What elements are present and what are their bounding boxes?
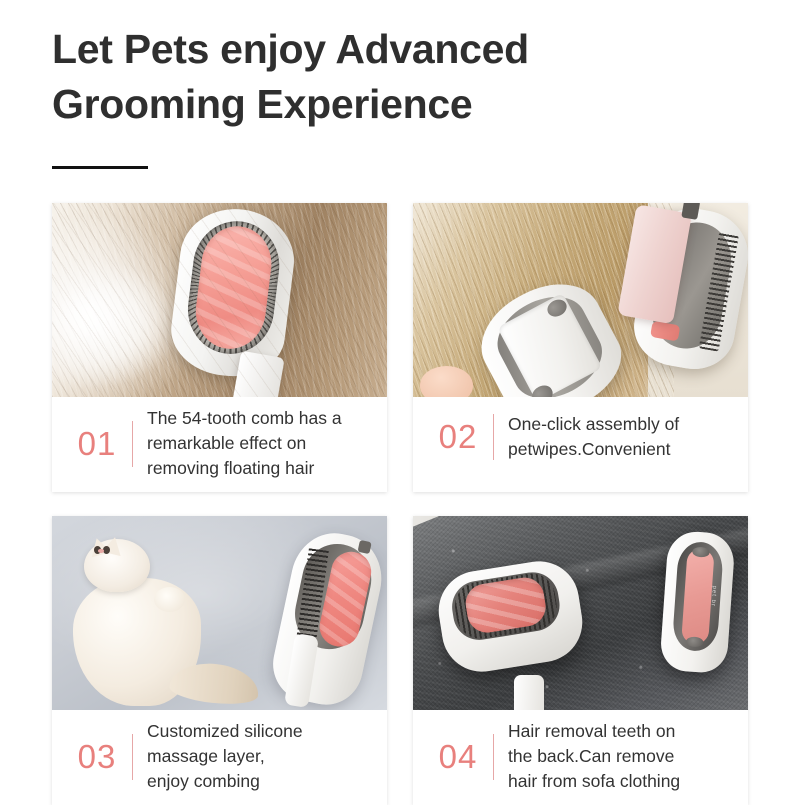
caption-separator (493, 414, 494, 460)
feature-card-grid: 01 The 54-tooth comb has a remarkable ef… (52, 203, 748, 805)
feature-card-02[interactable]: 02 One-click assembly of petwipes.Conven… (413, 203, 748, 492)
caption-01: 01 The 54-tooth comb has a remarkable ef… (52, 397, 387, 492)
cat-paw (154, 587, 185, 612)
feature-image-01 (52, 203, 387, 397)
white-cat (69, 532, 263, 710)
card-text-04: Hair removal teeth on the back.Can remov… (508, 719, 738, 794)
caption-separator (132, 734, 133, 780)
card-number-04: 04 (425, 738, 491, 776)
feature-image-03 (52, 516, 387, 710)
release-tab (681, 203, 700, 220)
loose-hair-strands (52, 203, 387, 397)
brush-handle (514, 675, 544, 710)
feature-card-04[interactable]: pet brush 04 Hair removal teeth on the b… (413, 516, 748, 805)
page-title: Let Pets enjoy Advanced Grooming Experie… (52, 22, 752, 132)
caption-separator (493, 734, 494, 780)
card-number-03: 03 (64, 738, 130, 776)
page-header: Let Pets enjoy Advanced Grooming Experie… (52, 22, 752, 132)
feature-image-02 (413, 203, 748, 397)
brush-head-upright: pet brush (659, 529, 736, 673)
title-divider (52, 166, 148, 169)
caption-04: 04 Hair removal teeth on the back.Can re… (413, 710, 748, 805)
card-number-01: 01 (64, 425, 130, 463)
caption-02: 02 One-click assembly of petwipes.Conven… (413, 397, 748, 479)
brand-label: pet brush (679, 582, 717, 606)
product-feature-page: { "header": { "headline": "Let Pets enjo… (0, 0, 800, 800)
feature-image-04: pet brush (413, 516, 748, 710)
feature-card-01[interactable]: 01 The 54-tooth comb has a remarkable ef… (52, 203, 387, 492)
card-text-03: Customized silicone massage layer, enjoy… (147, 719, 377, 794)
feature-card-03[interactable]: 03 Customized silicone massage layer, en… (52, 516, 387, 805)
caption-03: 03 Customized silicone massage layer, en… (52, 710, 387, 805)
card-text-02: One-click assembly of petwipes.Convenien… (508, 412, 738, 462)
caption-separator (132, 421, 133, 467)
cat-head (84, 539, 150, 593)
card-number-02: 02 (425, 418, 491, 456)
card-text-01: The 54-tooth comb has a remarkable effec… (147, 406, 377, 481)
